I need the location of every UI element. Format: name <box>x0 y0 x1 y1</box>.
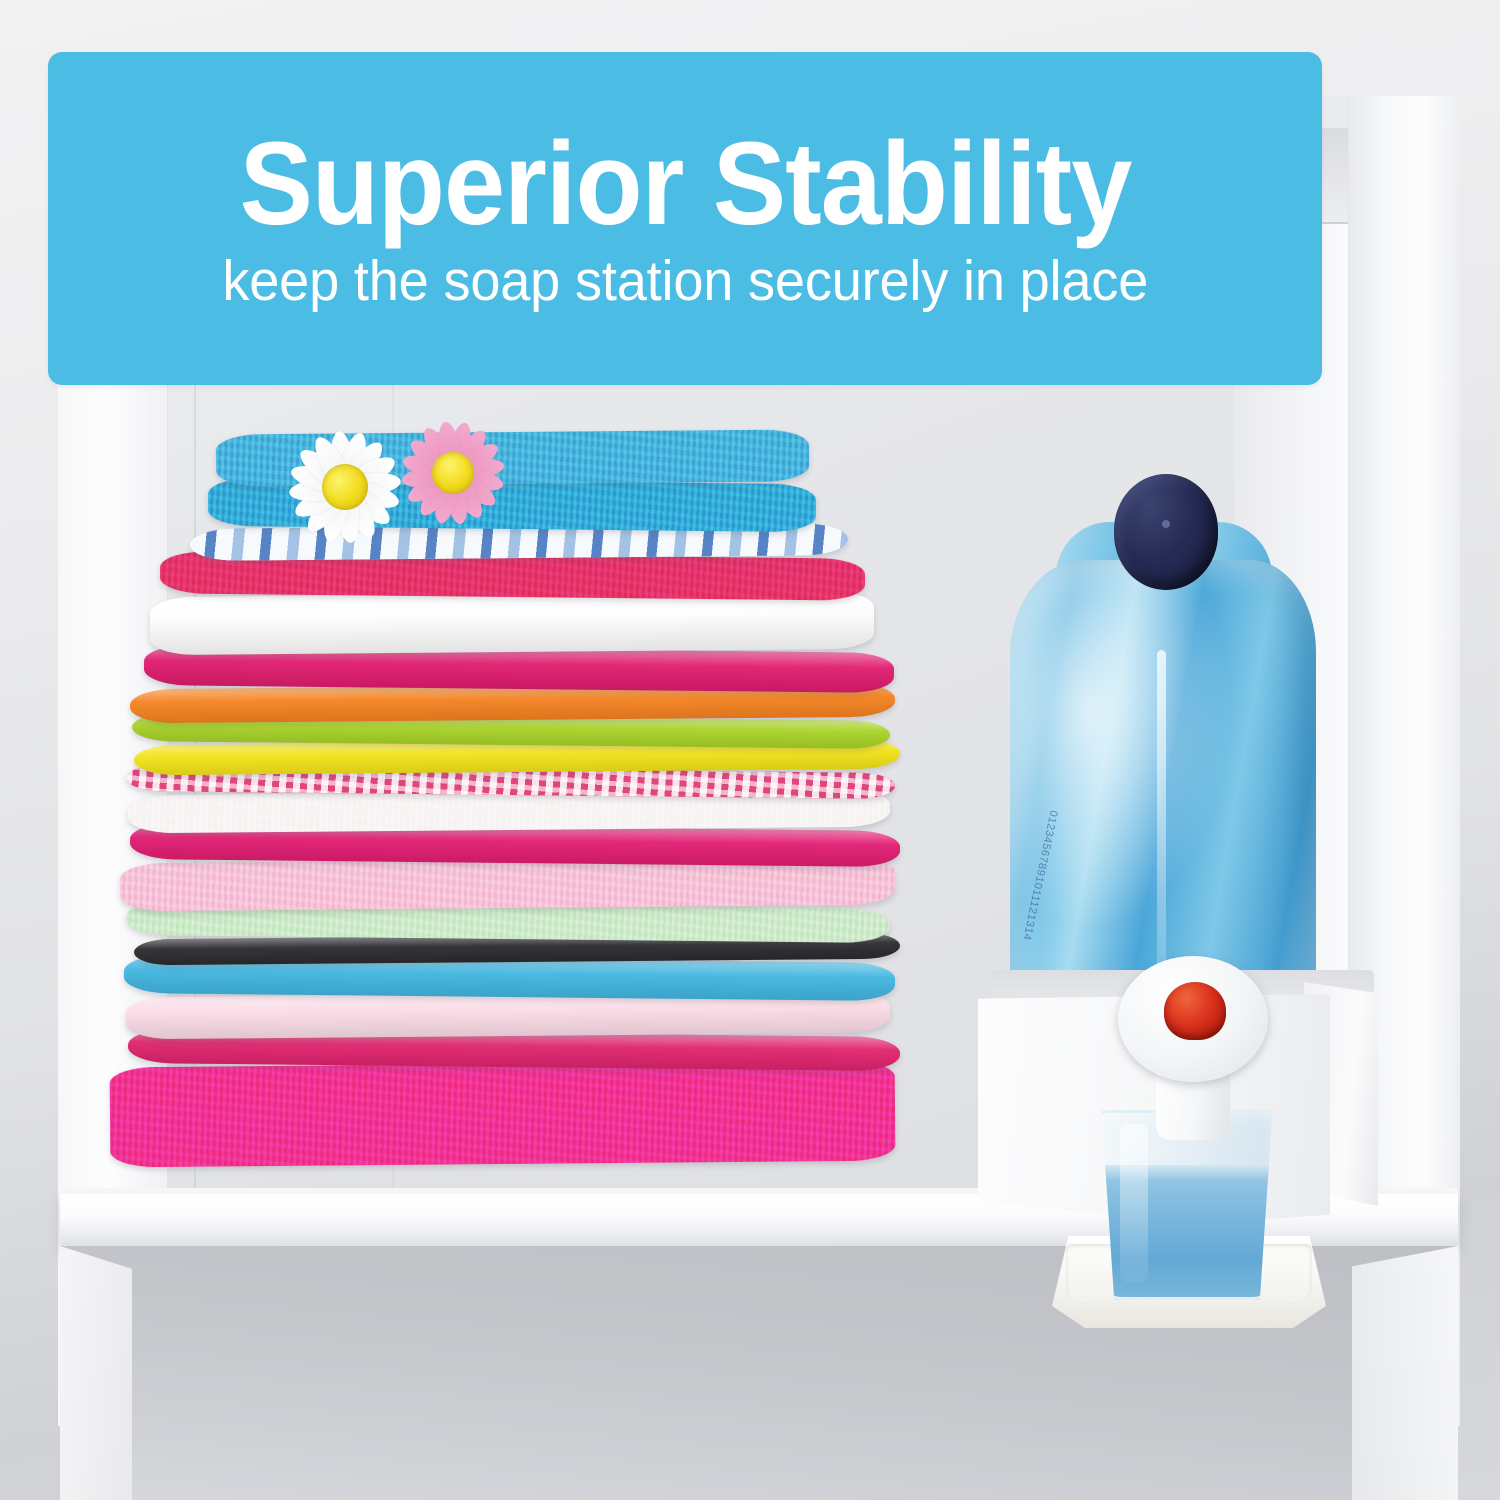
measuring-cup-highlight <box>1120 1124 1148 1282</box>
dispenser-valve-button[interactable] <box>1164 982 1226 1040</box>
banner-title: Superior Stability <box>239 124 1131 244</box>
laundry-layer-hot-pink-towel-base <box>110 1061 896 1168</box>
under-shelf-left-wall <box>60 1246 132 1500</box>
headline-banner: Superior Stability keep the soap station… <box>48 52 1322 385</box>
soap-station: 01234567891011121314 <box>968 470 1398 1300</box>
laundry-stack <box>120 432 900 1181</box>
banner-subtitle: keep the soap station securely in place <box>222 250 1148 313</box>
laundry-layer-white-shirt <box>150 591 874 655</box>
detergent-bottle-cap[interactable] <box>1114 474 1218 590</box>
